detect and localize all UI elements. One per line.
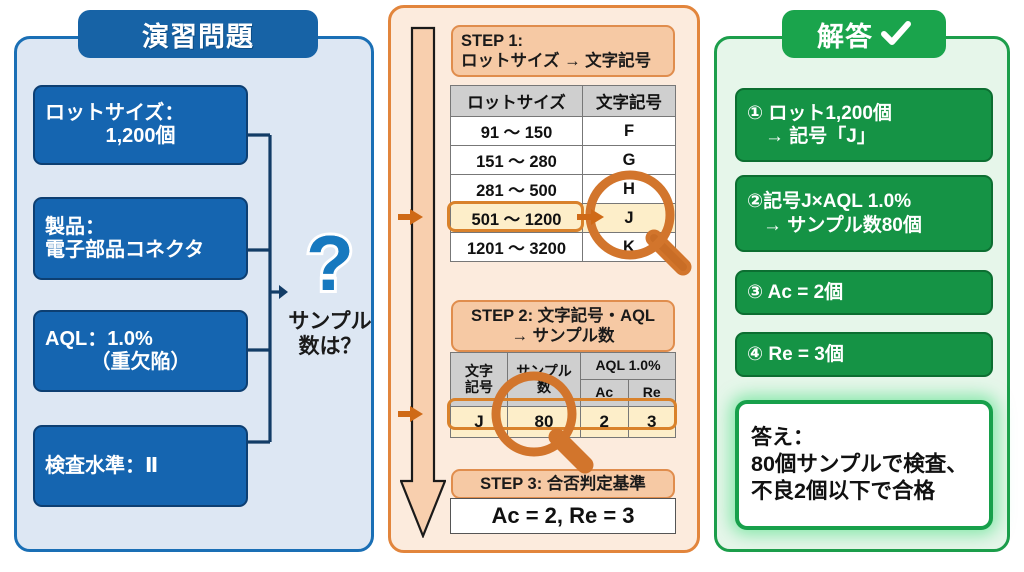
step2-header-re: Re <box>628 380 676 407</box>
step2-value-sample: 80 <box>508 407 581 438</box>
problem-item-line2: （重欠陥） <box>45 351 236 374</box>
step1-range: 151 ～ 280 <box>451 146 583 175</box>
problem-panel-title: 演習問題 <box>78 10 318 58</box>
answer-item-line1: ④ Re = 3個 <box>747 343 981 366</box>
step1-code: G <box>583 146 676 175</box>
problem-item-line1: ロットサイズ： <box>45 102 236 125</box>
table-row: 281 ～ 500 H <box>451 175 676 204</box>
problem-item-product: 製品： 電子部品コネクタ <box>33 197 248 280</box>
check-icon <box>881 21 911 47</box>
step1-code: H <box>583 175 676 204</box>
step2-header-code-line2: 記号 <box>451 380 507 395</box>
table-row-highlighted: J 80 2 3 <box>451 407 676 438</box>
step1-code: K <box>583 233 676 262</box>
step1-row-pointer-icon <box>577 206 605 228</box>
final-answer-box: 答え： 80個サンプルで検査、 不良2個以下で合格 <box>735 400 993 530</box>
problem-item-line1: AQL：1.0% <box>45 328 236 351</box>
problem-item-lot-size: ロットサイズ： 1,200個 <box>33 85 248 165</box>
problem-item-line1: 製品： <box>45 216 236 239</box>
table-header-row: 文字 記号 サンプル 数 AQL 1.0% <box>451 353 676 380</box>
step1-title: STEP 1: ロットサイズ → 文字記号 <box>451 25 675 77</box>
infographic-canvas: 演習問題 ロットサイズ： 1,200個 製品： 電子部品コネクタ AQL：1.0… <box>0 0 1024 572</box>
table-row: 1201 ～ 3200 K <box>451 233 676 262</box>
step2-header-sample-line1: サンプル <box>508 364 580 379</box>
step2-header-ac: Ac <box>581 380 629 407</box>
answer-item-line1: ① ロット1,200個 <box>747 102 981 125</box>
problem-item-line2: 電子部品コネクタ <box>45 239 236 262</box>
bracket-connector <box>248 120 288 460</box>
step1-left-pointer-icon <box>398 206 424 228</box>
step1-range: 501 ～ 1200 <box>451 204 583 233</box>
answer-item-2: ②記号J×AQL 1.0% → サンプル数80個 <box>735 175 993 252</box>
step2-header-code-line1: 文字 <box>451 364 507 379</box>
final-answer-line3: 不良2個以下で合格 <box>751 478 977 505</box>
step1-table: ロットサイズ 文字記号 91 ～ 150 F 151 ～ 280 G 281 ～… <box>450 85 676 262</box>
problem-item-line2: 1,200個 <box>45 125 236 148</box>
step2-value-code: J <box>451 407 508 438</box>
step1-code: F <box>583 117 676 146</box>
step1-title-line2: ロットサイズ → 文字記号 <box>461 51 651 71</box>
step1-title-line1: STEP 1: <box>461 31 523 51</box>
answer-panel-title: 解答 <box>782 10 946 58</box>
answer-item-line1: ②記号J×AQL 1.0% <box>747 190 981 213</box>
answer-item-3: ③ Ac = 2個 <box>735 270 993 315</box>
answer-item-1: ① ロット1,200個 → 記号「J」 <box>735 88 993 162</box>
question-label-line1: サンプル <box>282 310 378 335</box>
question-label: サンプル 数は？ <box>282 310 378 360</box>
step2-value-ac: 2 <box>581 407 629 438</box>
question-mark-icon: ? ? <box>295 228 365 310</box>
step1-range: 281 ～ 500 <box>451 175 583 204</box>
table-row: 151 ～ 280 G <box>451 146 676 175</box>
step1-range: 1201 ～ 3200 <box>451 233 583 262</box>
step2-title-line1: STEP 2: 文字記号・AQL <box>471 306 655 326</box>
step2-title-line2: → サンプル数 <box>511 326 614 346</box>
step2-header-sample-line2: 数 <box>508 380 580 395</box>
step2-table: 文字 記号 サンプル 数 AQL 1.0% Ac Re J 80 2 3 <box>450 352 676 438</box>
table-row-highlighted: 501 ～ 1200 J <box>451 204 676 233</box>
table-header-row: ロットサイズ 文字記号 <box>451 86 676 117</box>
step1-header-code: 文字記号 <box>583 86 676 117</box>
answer-panel-title-text: 解答 <box>817 15 873 54</box>
table-row: 91 ～ 150 F <box>451 117 676 146</box>
answer-item-line2: → 記号「J」 <box>747 125 981 148</box>
step2-title: STEP 2: 文字記号・AQL → サンプル数 <box>451 300 675 352</box>
step2-left-pointer-icon <box>398 403 424 425</box>
final-answer-line2: 80個サンプルで検査、 <box>751 451 977 478</box>
answer-item-line1: ③ Ac = 2個 <box>747 281 981 304</box>
step2-header-sample: サンプル 数 <box>508 353 581 407</box>
step3-title-text: STEP 3: 合否判定基準 <box>480 474 646 494</box>
step2-value-re: 3 <box>628 407 676 438</box>
step3-title: STEP 3: 合否判定基準 <box>451 469 675 499</box>
answer-item-4: ④ Re = 3個 <box>735 332 993 377</box>
step2-header-code: 文字 記号 <box>451 353 508 407</box>
problem-item-line1: 検査水準：Ⅱ <box>45 455 236 478</box>
problem-item-aql: AQL：1.0% （重欠陥） <box>33 310 248 392</box>
answer-item-line2: → サンプル数80個 <box>747 214 981 237</box>
step2-header-aql: AQL 1.0% <box>581 353 676 380</box>
step1-range: 91 ～ 150 <box>451 117 583 146</box>
problem-item-inspection-level: 検査水準：Ⅱ <box>33 425 248 507</box>
step1-header-lot-size: ロットサイズ <box>451 86 583 117</box>
question-label-line2: 数は？ <box>282 335 378 360</box>
down-arrow-icon <box>400 26 446 538</box>
step3-result: Ac = 2, Re = 3 <box>450 498 676 534</box>
svg-text:?: ? <box>306 228 354 307</box>
final-answer-line1: 答え： <box>751 425 977 451</box>
